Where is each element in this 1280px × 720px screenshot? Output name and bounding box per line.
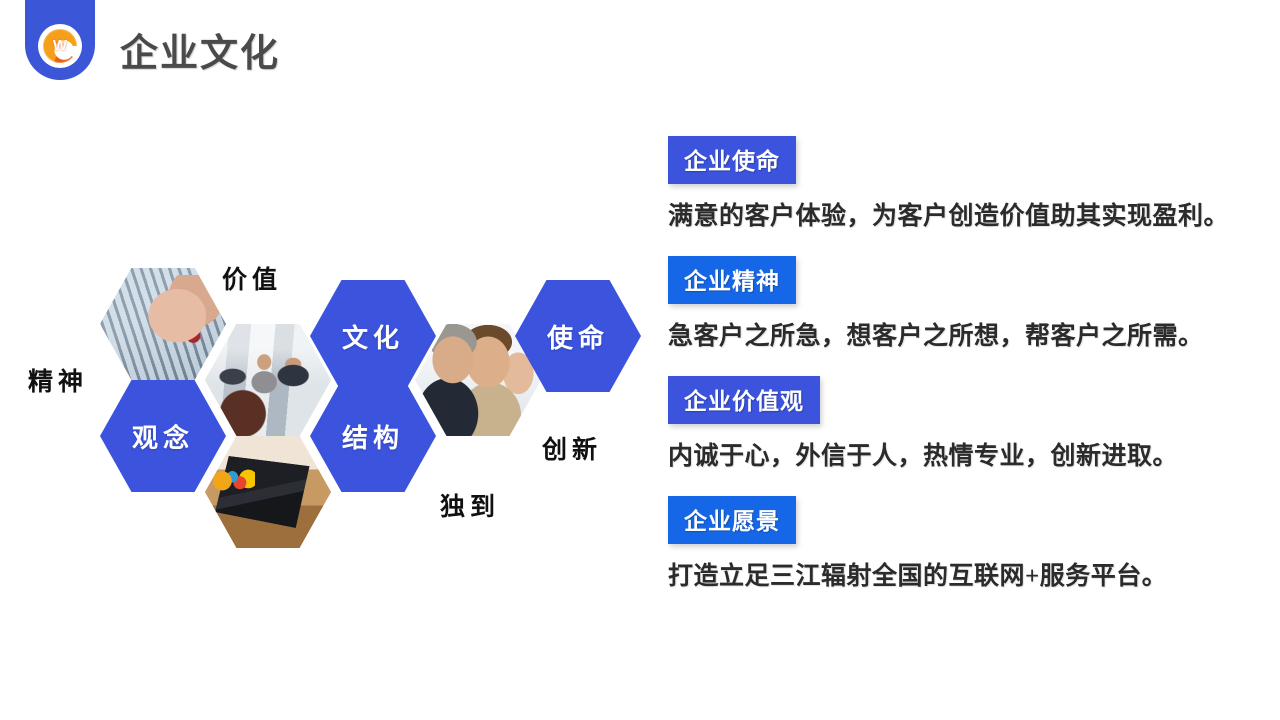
hexagon-wenhua[interactable]: 文化	[310, 280, 436, 392]
hexagon-label: 结构	[342, 418, 404, 455]
status-badge: 企业价值观	[668, 376, 820, 424]
hexagon-photo-laptop	[205, 436, 331, 548]
content-text: 内诚于心，外信于人，热情专业，创新进取。	[668, 436, 1258, 472]
logo-mark: W	[38, 24, 82, 68]
laptop-sticker-icon	[213, 466, 256, 493]
hexagon-label: 文化	[342, 318, 404, 355]
content-block-vision: 企业愿景 打造立足三江辐射全国的互联网+服务平台。	[668, 496, 1258, 592]
status-badge: 企业精神	[668, 256, 796, 304]
content-text: 急客户之所急，想客户之所想，帮客户之所需。	[668, 316, 1258, 352]
logo-letter: W	[43, 38, 77, 53]
status-badge: 企业愿景	[668, 496, 796, 544]
status-badge: 企业使命	[668, 136, 796, 184]
hexagon-jiegou[interactable]: 结构	[310, 380, 436, 492]
diagram-label-jingshen: 精神	[28, 362, 88, 398]
content-text: 满意的客户体验，为客户创造价值助其实现盈利。	[668, 196, 1258, 232]
content-text: 打造立足三江辐射全国的互联网+服务平台。	[668, 556, 1258, 592]
content-block-mission: 企业使命 满意的客户体验，为客户创造价值助其实现盈利。	[668, 136, 1258, 232]
content-block-values: 企业价值观 内诚于心，外信于人，热情专业，创新进取。	[668, 376, 1258, 472]
company-logo-badge: W	[25, 0, 95, 80]
hexagon-label: 使命	[547, 318, 609, 355]
slide-canvas: W 企业文化 观念 文化 结构 使命 精神 价值 独到 创新 企业使命	[0, 0, 1280, 720]
diagram-label-chuangxin: 创新	[542, 430, 602, 466]
hexagon-photo-office	[205, 324, 331, 436]
diagram-label-jiazhi: 价值	[222, 260, 282, 296]
diagram-label-dudao: 独到	[440, 487, 500, 523]
content-block-spirit: 企业精神 急客户之所急，想客户之所想，帮客户之所需。	[668, 256, 1258, 352]
hexagon-photo-keyboard	[100, 268, 226, 380]
hexagon-diagram: 观念 文化 结构 使命 精神 价值 独到 创新	[60, 250, 660, 550]
hexagon-label: 观念	[132, 418, 194, 455]
page-title: 企业文化	[120, 22, 280, 77]
hexagon-guannian[interactable]: 观念	[100, 380, 226, 492]
content-column: 企业使命 满意的客户体验，为客户创造价值助其实现盈利。 企业精神 急客户之所急，…	[668, 136, 1258, 616]
logo-swirl-icon: W	[43, 29, 77, 63]
